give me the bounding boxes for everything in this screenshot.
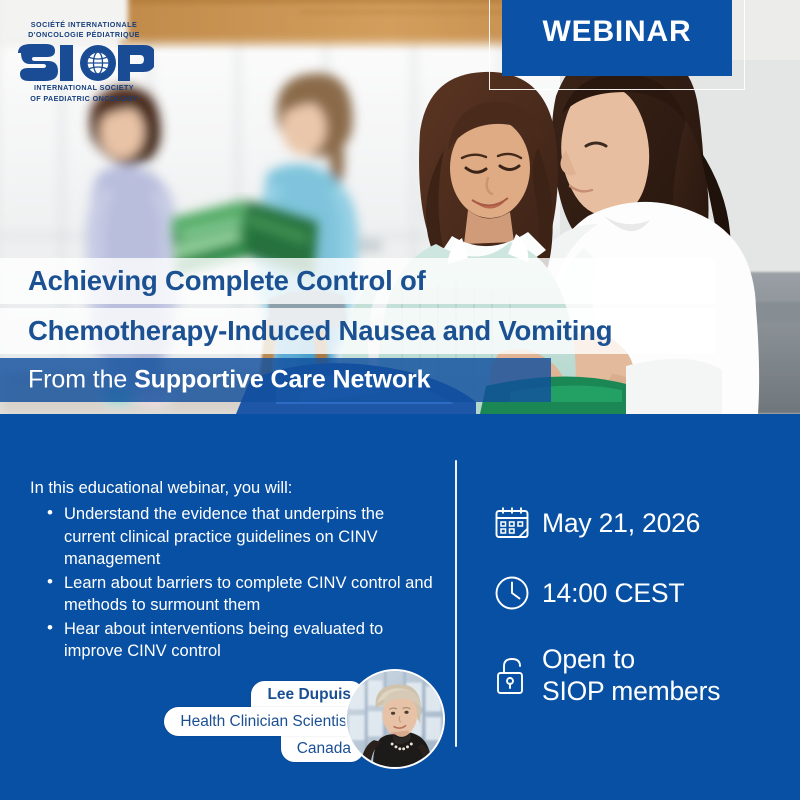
content-area: In this educational webinar, you will: U…	[0, 414, 800, 800]
title-block: Achieving Complete Control of Chemothera…	[0, 258, 800, 402]
title-band-2: Chemotherapy-Induced Nausea and Vomiting	[0, 308, 715, 354]
webinar-poster: SOCIÉTÉ INTERNATIONALE D'ONCOLOGIE PÉDIA…	[0, 0, 800, 800]
speaker-card: Lee Dupuis Health Clinician Scientist Ca…	[60, 667, 450, 773]
subtitle-band: From the Supportive Care Network	[0, 358, 551, 402]
event-access-line-2: SIOP members	[542, 675, 720, 707]
event-time-row: 14:00 CEST	[492, 562, 792, 624]
subtitle-bold: Supportive Care Network	[134, 366, 430, 394]
siop-logo: SOCIÉTÉ INTERNATIONALE D'ONCOLOGIE PÉDIA…	[14, 20, 154, 103]
event-access-line-1: Open to	[542, 643, 720, 675]
list-item: Hear about interventions being evaluated…	[44, 618, 436, 663]
event-date-row: May 21, 2026	[492, 492, 792, 554]
lead-text: In this educational webinar, you will:	[30, 478, 430, 499]
event-access-value: Open to SIOP members	[542, 643, 720, 707]
title-line-2: Chemotherapy-Induced Nausea and Vomiting	[28, 315, 612, 347]
unlock-icon	[492, 653, 542, 697]
speaker-portrait-illustration	[347, 671, 443, 767]
event-access-row: Open to SIOP members	[492, 632, 792, 718]
event-date-value: May 21, 2026	[542, 507, 700, 539]
logo-line-bottom-2: OF PAEDIATRIC ONCOLOGY	[16, 94, 152, 104]
list-item: Learn about barriers to complete CINV co…	[44, 572, 436, 617]
vertical-divider	[455, 460, 457, 747]
logo-line-bottom-1: INTERNATIONAL SOCIETY	[16, 83, 152, 93]
subtitle-prefix: From the	[28, 366, 134, 394]
logo-line-top-2: D'ONCOLOGIE PÉDIATRIQUE	[16, 30, 152, 40]
benefits-list: Understand the evidence that underpins t…	[44, 503, 436, 664]
event-time-value: 14:00 CEST	[542, 577, 684, 609]
title-band-1: Achieving Complete Control of	[0, 258, 715, 304]
list-item: Understand the evidence that underpins t…	[44, 503, 436, 571]
speaker-pill-stack: Lee Dupuis Health Clinician Scientist Ca…	[164, 681, 364, 762]
calendar-icon	[492, 503, 542, 543]
event-details: May 21, 2026 14:00 CEST	[492, 492, 792, 726]
clock-icon	[492, 573, 542, 613]
subtitle-line: From the Supportive Care Network	[28, 366, 430, 395]
webinar-badge-label: WEBINAR	[543, 15, 692, 49]
speaker-role: Health Clinician Scientist	[164, 707, 364, 736]
speaker-portrait	[345, 669, 445, 769]
logo-line-top-1: SOCIÉTÉ INTERNATIONALE	[16, 20, 152, 30]
webinar-badge: WEBINAR	[502, 0, 732, 76]
title-line-1: Achieving Complete Control of	[28, 265, 426, 297]
siop-wordmark-globe-icon	[14, 40, 154, 82]
